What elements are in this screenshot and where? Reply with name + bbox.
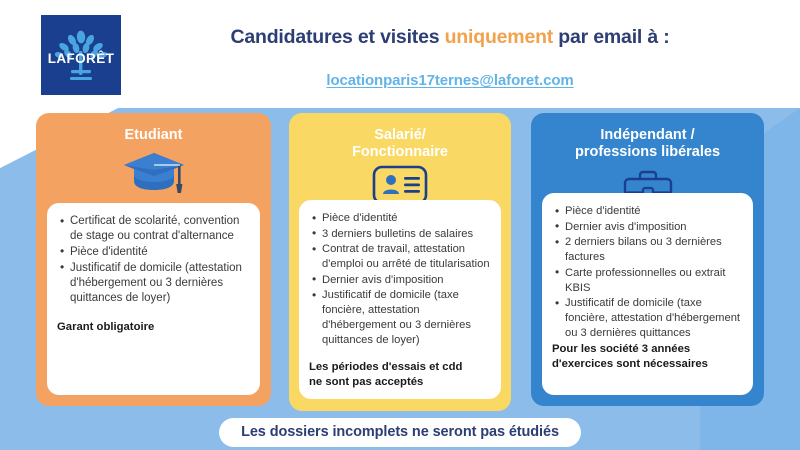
card-etudiant-panel: Certificat de scolarité, convention de s…	[47, 203, 260, 395]
card-etudiant-list: Certificat de scolarité, convention de s…	[57, 214, 250, 306]
footer-message: Les dossiers incomplets ne seront pas ét…	[219, 418, 581, 447]
list-item: Dernier avis d'imposition	[309, 273, 491, 288]
list-item: Contrat de travail, attestation d'emploi…	[309, 242, 491, 272]
card-independant-list: Pièce d'identité Dernier avis d'impositi…	[552, 204, 743, 341]
title-part-before: Candidatures et visites	[230, 26, 444, 48]
list-item: Carte professionnelles ou extrait KBIS	[552, 266, 743, 296]
card-independant-note: Pour les société 3 années d'exercices so…	[552, 342, 743, 371]
header: LAFORÊT Candidatures et visites uniqueme…	[0, 0, 800, 108]
list-item: Certificat de scolarité, convention de s…	[57, 214, 250, 244]
list-item: Pièce d'identité	[309, 211, 491, 226]
title-part-after: par email à :	[553, 26, 669, 48]
card-salarie-fonctionnaire: Salarié/ Fonctionnaire Pièce d'identité …	[289, 113, 511, 411]
page-title: Candidatures et visites uniquement par e…	[130, 26, 770, 49]
list-item: Dernier avis d'imposition	[552, 220, 743, 235]
laforet-logo-mark: LAFORÊT	[47, 21, 115, 89]
list-item: Pièce d'identité	[57, 245, 250, 260]
title-highlight: uniquement	[445, 26, 554, 48]
list-item: 2 derniers bilans ou 3 dernières facture…	[552, 235, 743, 265]
laforet-logo-text: LAFORÊT	[48, 51, 115, 66]
list-item: 3 derniers bulletins de salaires	[309, 227, 491, 242]
laforet-logo: LAFORÊT	[41, 15, 121, 95]
card-etudiant: Etudiant Certificat de scolarité, conven…	[36, 113, 271, 406]
footer: Les dossiers incomplets ne seront pas ét…	[0, 415, 800, 450]
card-independant-panel: Pièce d'identité Dernier avis d'impositi…	[542, 193, 753, 395]
infographic-root: LAFORÊT Candidatures et visites uniqueme…	[0, 0, 800, 450]
card-salarie-fonctionnaire-title: Salarié/ Fonctionnaire	[289, 121, 511, 161]
card-etudiant-note: Garant obligatoire	[57, 320, 250, 335]
contact-email-link[interactable]: locationparis17ternes@laforet.com	[130, 72, 770, 89]
card-salarie-fonctionnaire-note: Les périodes d'essais et cdd ne sont pas…	[309, 360, 491, 389]
card-salarie-fonctionnaire-list: Pièce d'identité 3 derniers bulletins de…	[309, 211, 491, 348]
list-item: Justificatif de domicile (taxe foncière,…	[552, 296, 743, 341]
card-independant: Indépendant / professions libérales Pièc…	[531, 113, 764, 406]
card-etudiant-title: Etudiant	[36, 121, 271, 144]
list-item: Pièce d'identité	[552, 204, 743, 219]
graduation-cap-icon	[36, 146, 271, 200]
card-salarie-fonctionnaire-panel: Pièce d'identité 3 derniers bulletins de…	[299, 200, 501, 399]
list-item: Justificatif de domicile (taxe foncière,…	[309, 288, 491, 348]
requirement-cards: Etudiant Certificat de scolarité, conven…	[0, 113, 800, 413]
list-item: Justificatif de domicile (attestation d'…	[57, 261, 250, 307]
card-independant-title: Indépendant / professions libérales	[531, 121, 764, 161]
